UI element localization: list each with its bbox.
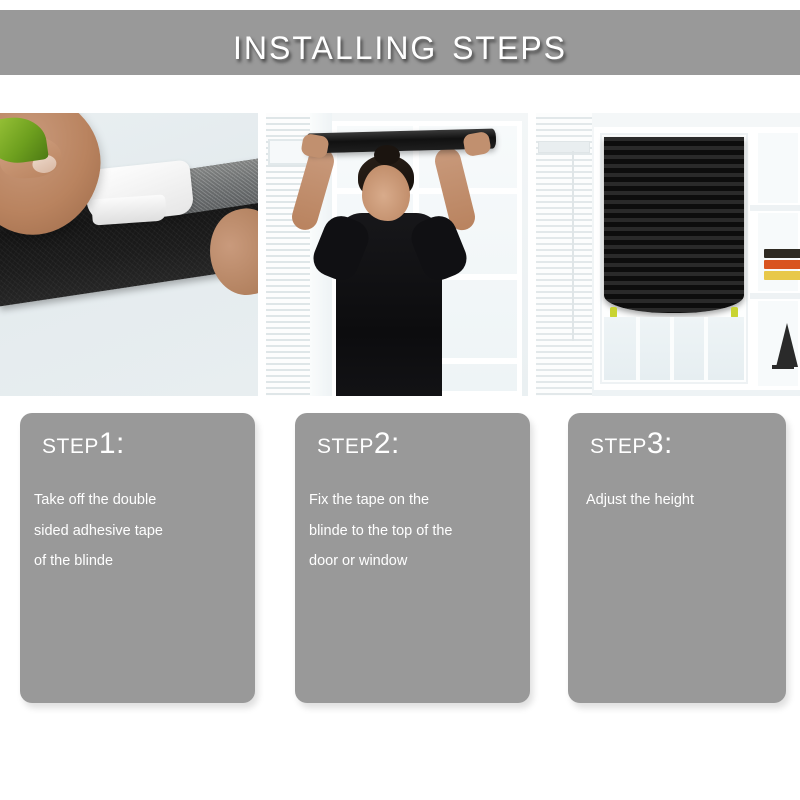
step-line: Take off the double [34, 485, 245, 516]
step-line: Fix the tape on the [309, 485, 520, 516]
book [764, 271, 800, 280]
step-line: door or window [309, 546, 520, 577]
step-line: blinde to the top of the [309, 516, 520, 547]
step-card-3: Step3: Adjust the height [568, 413, 786, 703]
step-cards: Step1: Take off the double sided adhesiv… [0, 413, 800, 705]
pane-mullion [670, 317, 674, 380]
book [764, 260, 800, 269]
installing-steps-page: Installing Steps [0, 0, 800, 800]
shelf-divider [750, 293, 800, 299]
header-banner: Installing Steps [0, 10, 800, 75]
shelf-divider [750, 205, 800, 211]
step-line: Adjust the height [586, 485, 776, 516]
pane-mullion [636, 317, 640, 380]
step-line: sided adhesive tape [34, 516, 245, 547]
step-title: Step2: [317, 429, 400, 459]
eiffel-tower-base [772, 365, 794, 369]
shutter-rail [538, 141, 590, 153]
step-description: Adjust the height [586, 485, 776, 516]
step-title: Step3: [590, 429, 673, 459]
book [764, 249, 800, 258]
window-pane [604, 317, 744, 380]
books [764, 249, 800, 282]
photo-peel-adhesive-tape [0, 113, 258, 396]
shutter-cord [572, 151, 574, 341]
page-title: Installing Steps [233, 20, 567, 66]
white-window [594, 127, 754, 390]
black-pleated-blind [604, 137, 744, 313]
step-description: Fix the tape on the blinde to the top of… [309, 485, 520, 577]
pane-mullion [704, 317, 708, 380]
step-line: of the blinde [34, 546, 245, 577]
white-shutter [536, 113, 592, 396]
photo-fix-blind-to-door [266, 113, 528, 396]
hair-bun [374, 145, 400, 165]
photo-installed-blind [536, 113, 800, 396]
white-backing-strip-fold [91, 194, 167, 225]
eiffel-tower-figurine [776, 323, 798, 367]
photo-row [0, 113, 800, 396]
shelf-cubby [758, 133, 798, 203]
bookshelf [750, 127, 800, 390]
step-description: Take off the double sided adhesive tape … [34, 485, 245, 577]
left-hand [300, 133, 329, 159]
step-card-1: Step1: Take off the double sided adhesiv… [20, 413, 255, 703]
step-title: Step1: [42, 429, 125, 459]
step-card-2: Step2: Fix the tape on the blinde to the… [295, 413, 530, 703]
